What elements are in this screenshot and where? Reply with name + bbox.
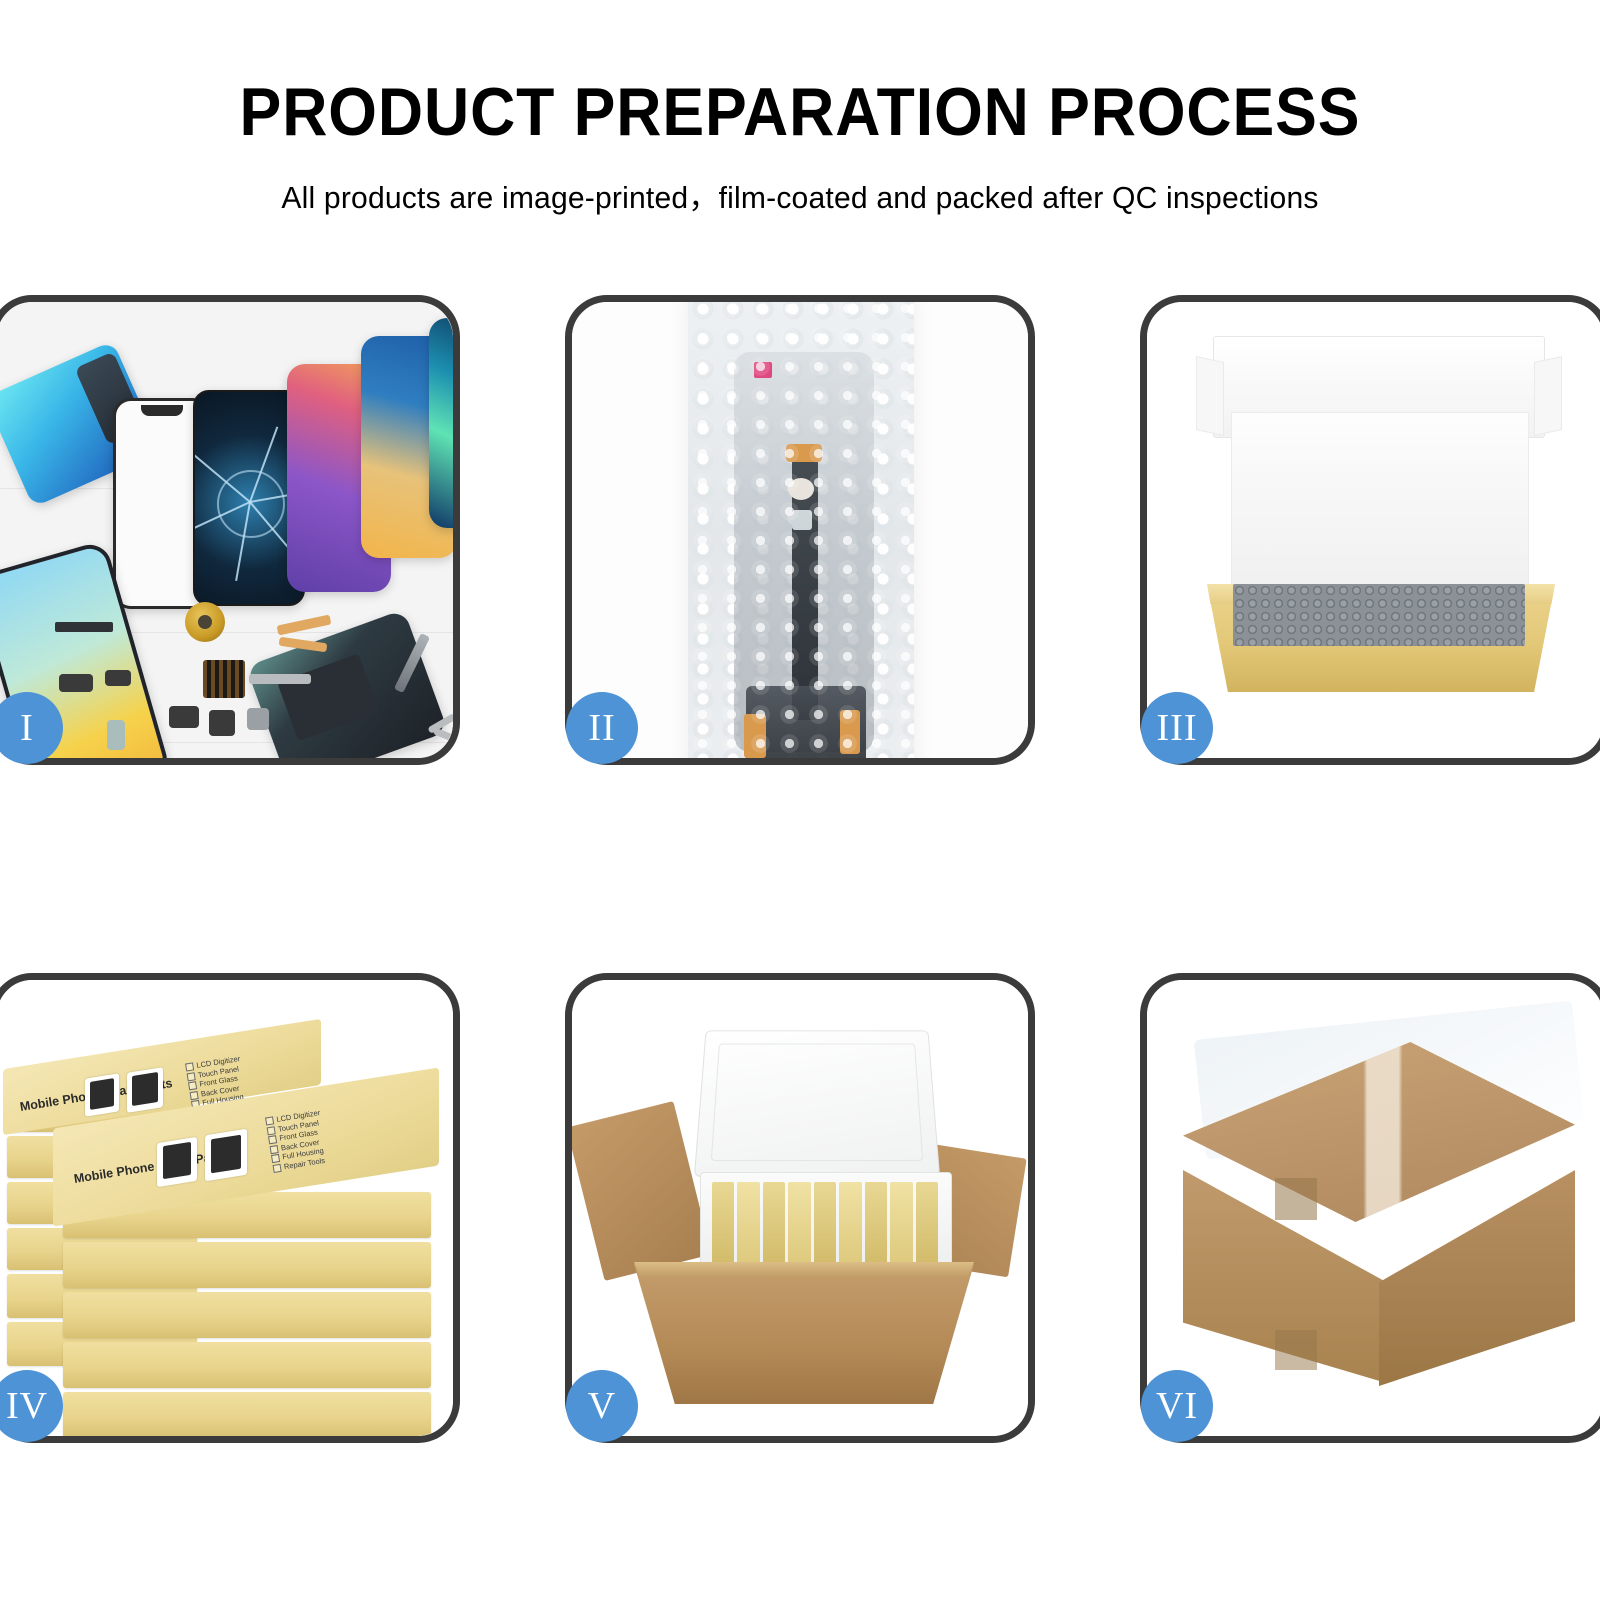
bubble-padding-image (1233, 584, 1525, 646)
carton-seam-image (1275, 1330, 1317, 1370)
bubble-wrap-bag-image (688, 302, 914, 758)
bubble-wrapped-screen-photo (572, 302, 1028, 758)
carton-seam-image (1275, 1178, 1317, 1220)
flex-cable-image (249, 674, 311, 684)
retail-box-checklist-front: LCD Digitizer Touch Panel Front Glass Ba… (265, 1108, 328, 1173)
carton-body-image (634, 1264, 974, 1404)
panel-step-1[interactable]: I (0, 295, 460, 765)
earpiece-speaker-image (55, 622, 113, 632)
panel-step-4[interactable]: Mobile Phone Spare Parts LCD Digitizer T… (0, 973, 460, 1443)
white-box-interior-image (1231, 412, 1529, 592)
step-badge: II (566, 692, 638, 764)
ic-chip-image (203, 660, 245, 698)
sealed-carton-photo (1147, 980, 1600, 1436)
process-steps-grid: I II (0, 295, 1600, 1443)
panel-step-6[interactable]: VI (1140, 973, 1600, 1443)
carton-side-face-image (1379, 1170, 1575, 1386)
retail-boxes-photo: Mobile Phone Spare Parts LCD Digitizer T… (0, 980, 453, 1436)
panel-step-5[interactable]: V (565, 973, 1035, 1443)
step-badge: VI (1141, 1370, 1213, 1442)
phone-parts-photo (0, 302, 453, 758)
gold-boxes-inside-image (712, 1182, 938, 1266)
header: PRODUCT PREPARATION PROCESS All products… (0, 0, 1600, 217)
step-badge: V (566, 1370, 638, 1442)
carton-rim-image (634, 1262, 974, 1278)
step-badge: III (1141, 692, 1213, 764)
panel-step-3[interactable]: III (1140, 295, 1600, 765)
page-subtitle: All products are image-printed，film-coat… (24, 172, 1576, 217)
bubble-texture-overlay (688, 302, 914, 758)
page-title: PRODUCT PREPARATION PROCESS (64, 78, 1536, 146)
product-preparation-infographic: PRODUCT PREPARATION PROCESS All products… (0, 0, 1600, 1600)
inner-box-photo (1147, 302, 1600, 758)
carton-flap-left-image (572, 1101, 711, 1281)
teal-screen-image (429, 318, 453, 528)
foam-cooler-lid-image (694, 1030, 940, 1176)
wireless-charging-coil-image (185, 602, 225, 642)
foam-carton-photo (572, 980, 1028, 1436)
box-stack-image: Mobile Phone Spare Parts LCD Digitizer T… (0, 980, 453, 1436)
panel-step-2[interactable]: II (565, 295, 1035, 765)
